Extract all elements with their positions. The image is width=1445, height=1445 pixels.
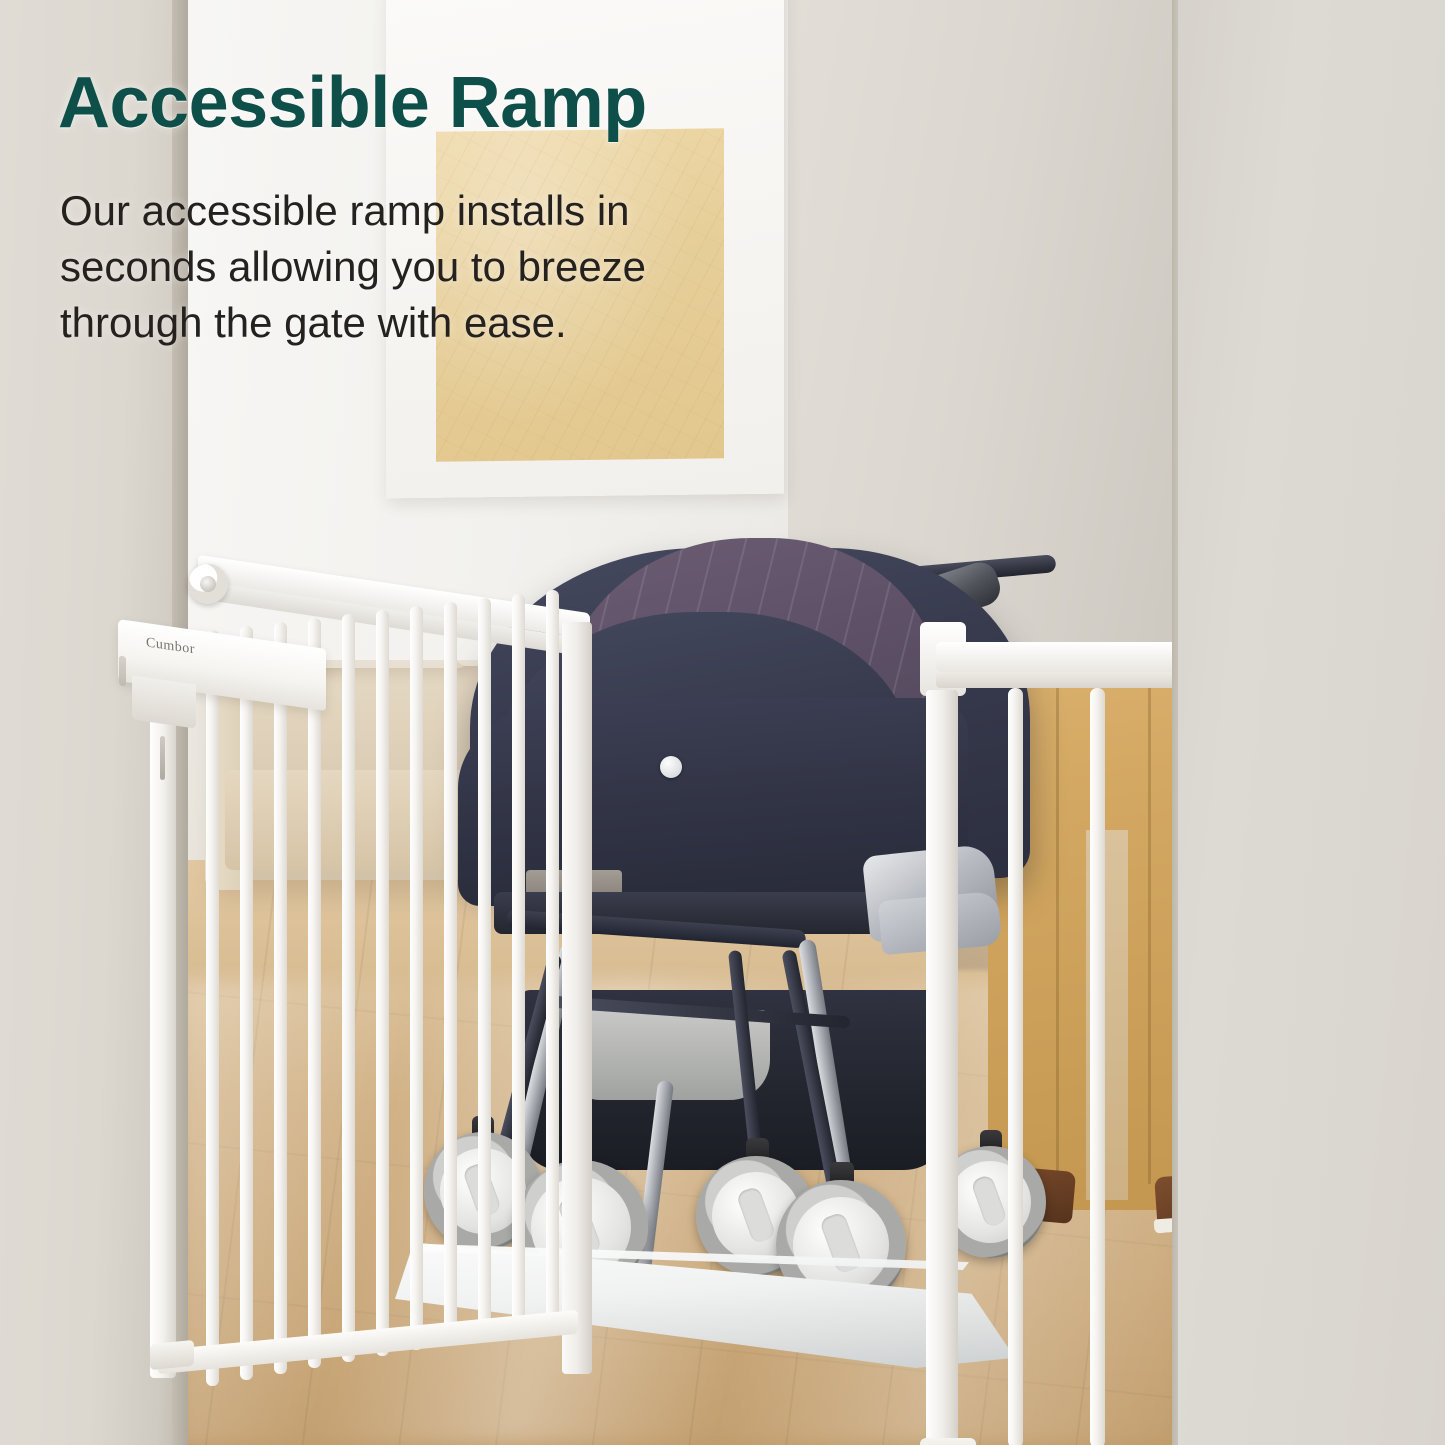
description-text: Our accessible ramp installs in seconds … [60,183,840,351]
gate-bottom-rail-end-cap [150,1340,194,1370]
gate-post-left [150,686,176,1378]
wall-right [1178,0,1445,1445]
gate-extension-foot [920,1438,976,1445]
product-feature-image: Cumbor Accessible Ramp Our accessible ra… [0,0,1445,1445]
gate-brand-plate-bracket [132,675,196,728]
gate-latch-slot [119,655,126,686]
gate-hinge-pin [160,736,165,780]
gate-extension-bar-1 [1008,688,1023,1445]
description-line-1: Our accessible ramp installs in [60,183,840,239]
page-title: Accessible Ramp [58,62,647,144]
description-line-2: seconds allowing you to breeze [60,239,840,295]
gate-pressure-knob-center [200,576,216,592]
gate-bar-group [206,600,576,1360]
description-line-3: through the gate with ease. [60,295,840,351]
gate-extension-bar-2 [1090,688,1105,1445]
gate-post-right [562,622,592,1374]
safety-gate: Cumbor [110,560,1220,1445]
gate-extension-post [926,690,958,1445]
